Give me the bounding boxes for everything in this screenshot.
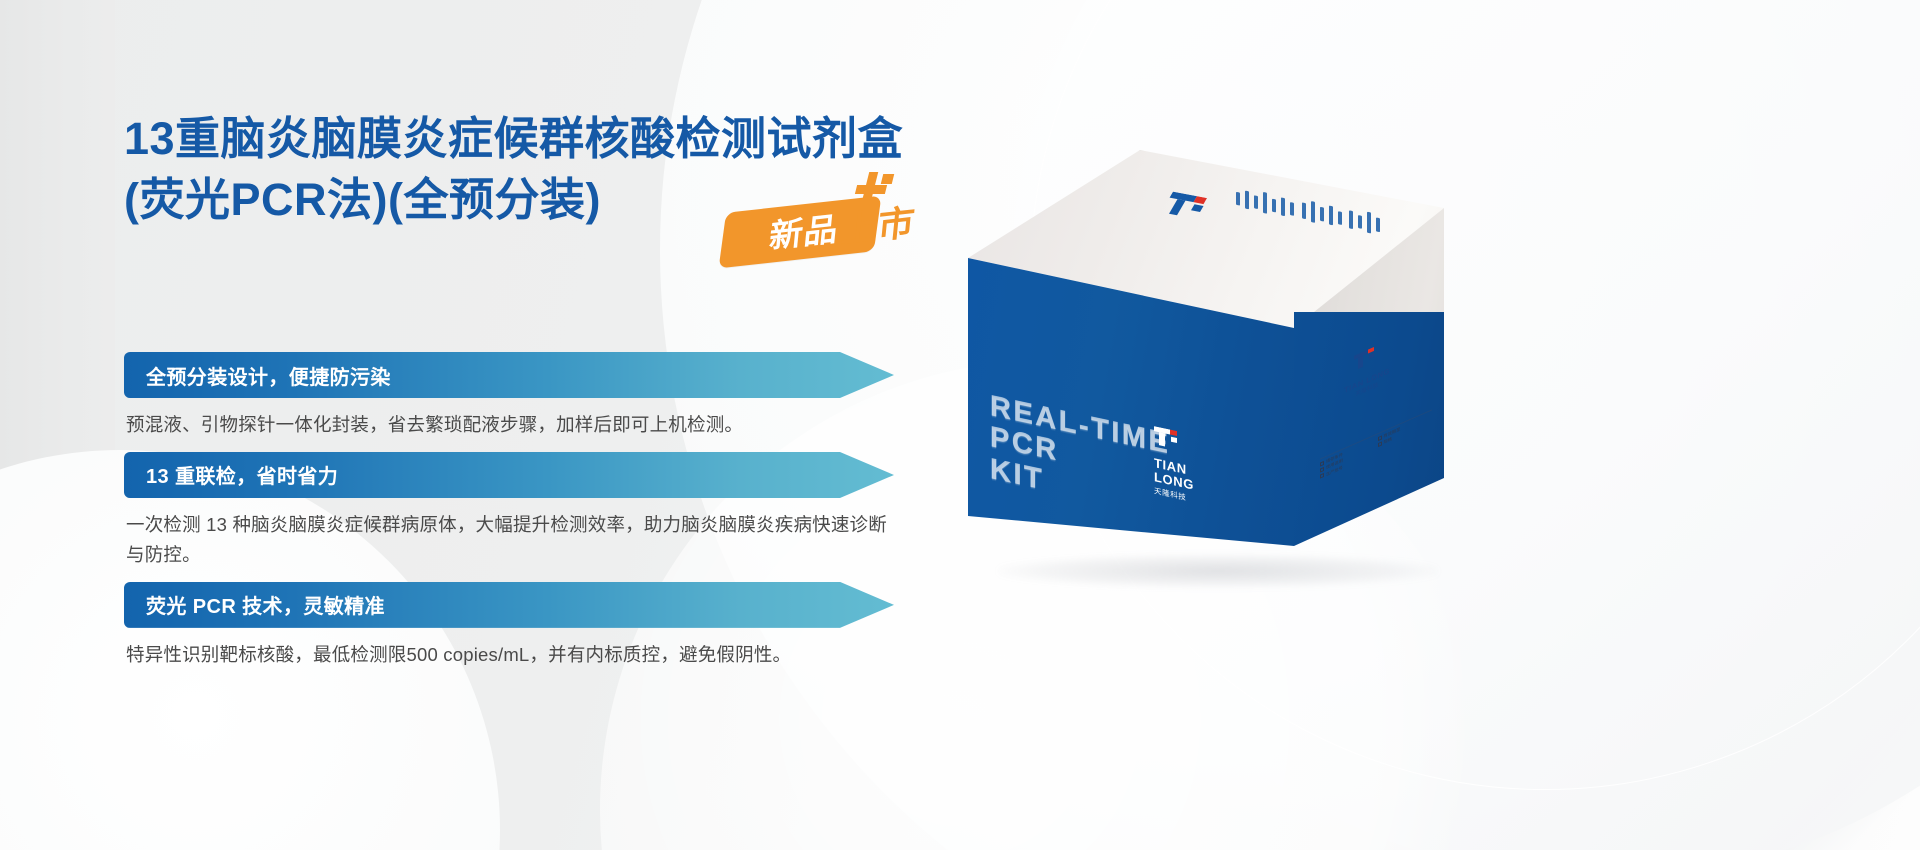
badge-right-label: 上市 (838, 187, 946, 264)
feature-bar-1: 全预分装设计，便捷防污染 (124, 352, 894, 398)
feature-desc-1: 预混液、引物探针一体化封装，省去繁琐配液步骤，加样后即可上机检测。 (124, 398, 904, 440)
feature-item-2: 13 重联检，省时省力 一次检测 13 种脑炎脑膜炎症候群病原体，大幅提升检测效… (124, 452, 914, 570)
new-product-badge: 新品 上市 (724, 178, 938, 266)
feature-list: 全预分装设计，便捷防污染 预混液、引物探针一体化封装，省去繁琐配液步骤，加样后即… (124, 352, 914, 682)
feature-bar-2: 13 重联检，省时省力 (124, 452, 894, 498)
feature-item-3: 荧光 PCR 技术，灵敏精准 特异性识别靶标核酸，最低检测限500 copies… (124, 582, 914, 670)
feature-title-3: 荧光 PCR 技术，灵敏精准 (124, 590, 385, 619)
feature-bar-3: 荧光 PCR 技术，灵敏精准 (124, 582, 894, 628)
feature-title-1: 全预分装设计，便捷防污染 (124, 361, 391, 390)
product-box-front-face: REAL-TIME PCR KIT (968, 254, 1298, 574)
feature-desc-3: 特异性识别靶标核酸，最低检测限500 copies/mL，并有内标质控，避免假阴… (124, 628, 904, 670)
headline-line-1: 13重脑炎脑膜炎症候群核酸检测试剂盒 (124, 113, 903, 164)
feature-desc-2: 一次检测 13 种脑炎脑膜炎症候群病原体，大幅提升检测效率，助力脑炎脑膜炎疾病快… (124, 498, 894, 570)
product-box-render: REAL-TIME PCR KIT TIAN LONG 天隆科技 (968, 150, 1488, 610)
banner-stage: 13重脑炎脑膜炎症候群核酸检测试剂盒 (荧光PCR法)(全预分装) 新品 上市 … (0, 0, 1920, 850)
feature-item-1: 全预分装设计，便捷防污染 预混液、引物探针一体化封装，省去繁琐配液步骤，加样后即… (124, 352, 914, 440)
feature-title-2: 13 重联检，省时省力 (124, 460, 338, 489)
